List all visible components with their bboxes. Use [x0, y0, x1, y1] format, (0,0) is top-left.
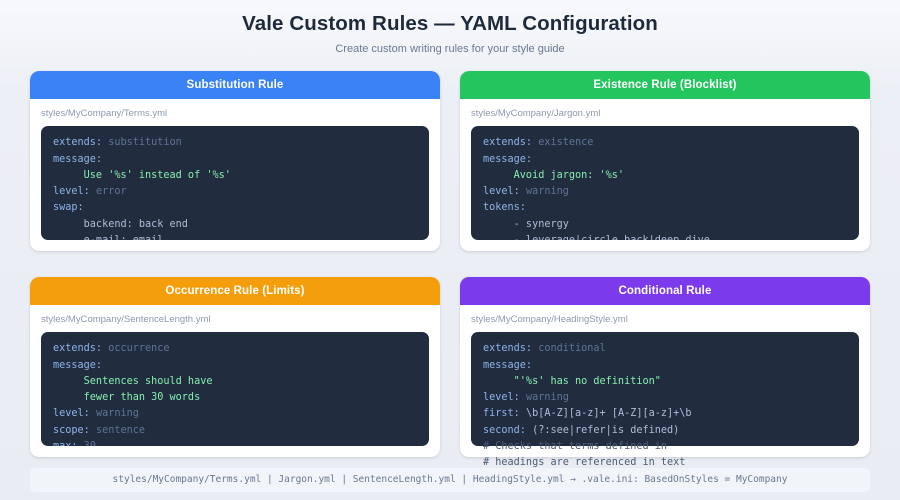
- card-header-existence: Existence Rule (Blocklist): [460, 71, 870, 99]
- file-path-label: styles/MyCompany/Jargon.yml: [471, 108, 859, 119]
- card-body-occurrence: styles/MyCompany/SentenceLength.yml exte…: [30, 305, 440, 457]
- code-line: extends: existence: [483, 135, 847, 151]
- code-line: scope: sentence: [53, 423, 417, 439]
- card-header-occurrence: Occurrence Rule (Limits): [30, 277, 440, 305]
- code-block-existence[interactable]: extends: existence message: Avoid jargon…: [471, 126, 859, 240]
- code-block-occurrence[interactable]: extends: occurrence message: Sentences s…: [41, 332, 429, 446]
- code-line: extends: occurrence: [53, 341, 417, 357]
- footer-bar: styles/MyCompany/Terms.yml | Jargon.yml …: [30, 468, 870, 492]
- page-header: Vale Custom Rules — YAML Configuration C…: [30, 0, 870, 56]
- code-line: tokens:: [483, 200, 847, 216]
- file-path-label: styles/MyCompany/SentenceLength.yml: [41, 314, 429, 325]
- page-title: Vale Custom Rules — YAML Configuration: [30, 11, 870, 37]
- code-block-substitution[interactable]: extends: substitution message: Use '%s' …: [41, 126, 429, 240]
- rule-card-existence[interactable]: Existence Rule (Blocklist) styles/MyComp…: [460, 71, 870, 251]
- code-line: # Checks that terms defined in: [483, 439, 847, 455]
- code-line: message:: [53, 358, 417, 374]
- code-line: - synergy: [483, 217, 847, 233]
- code-line: fewer than 30 words: [53, 390, 417, 406]
- page-subtitle: Create custom writing rules for your sty…: [30, 43, 870, 56]
- card-body-substitution: styles/MyCompany/Terms.yml extends: subs…: [30, 99, 440, 251]
- code-line: level: error: [53, 184, 417, 200]
- code-line: swap:: [53, 200, 417, 216]
- rule-card-substitution[interactable]: Substitution Rule styles/MyCompany/Terms…: [30, 71, 440, 251]
- code-line: extends: conditional: [483, 341, 847, 357]
- code-line: extends: substitution: [53, 135, 417, 151]
- card-header-conditional: Conditional Rule: [460, 277, 870, 305]
- card-body-existence: styles/MyCompany/Jargon.yml extends: exi…: [460, 99, 870, 251]
- rule-card-occurrence[interactable]: Occurrence Rule (Limits) styles/MyCompan…: [30, 277, 440, 457]
- code-line: level: warning: [483, 184, 847, 200]
- code-line: "'%s' has no definition": [483, 374, 847, 390]
- file-path-label: styles/MyCompany/Terms.yml: [41, 108, 429, 119]
- rule-card-grid: Substitution Rule styles/MyCompany/Terms…: [30, 71, 870, 457]
- code-line: - leverage|circle back|deep dive: [483, 233, 847, 240]
- rule-card-conditional[interactable]: Conditional Rule styles/MyCompany/Headin…: [460, 277, 870, 457]
- page-root: Vale Custom Rules — YAML Configuration C…: [0, 0, 900, 500]
- card-header-substitution: Substitution Rule: [30, 71, 440, 99]
- code-line: level: warning: [53, 406, 417, 422]
- code-line: Use '%s' instead of '%s': [53, 168, 417, 184]
- card-body-conditional: styles/MyCompany/HeadingStyle.yml extend…: [460, 305, 870, 457]
- code-line: second: (?:see|refer|is defined): [483, 423, 847, 439]
- code-line: message:: [483, 152, 847, 168]
- code-line: level: warning: [483, 390, 847, 406]
- code-line: message:: [53, 152, 417, 168]
- code-line: first: \b[A-Z][a-z]+ [A-Z][a-z]+\b: [483, 406, 847, 422]
- file-path-label: styles/MyCompany/HeadingStyle.yml: [471, 314, 859, 325]
- code-line: Sentences should have: [53, 374, 417, 390]
- code-block-conditional[interactable]: extends: conditional message: "'%s' has …: [471, 332, 859, 446]
- code-line: backend: back end: [53, 217, 417, 233]
- code-line: message:: [483, 358, 847, 374]
- code-line: token: '\b\w+\b': [53, 445, 417, 446]
- code-line: Avoid jargon: '%s': [483, 168, 847, 184]
- code-line: e-mail: email: [53, 233, 417, 240]
